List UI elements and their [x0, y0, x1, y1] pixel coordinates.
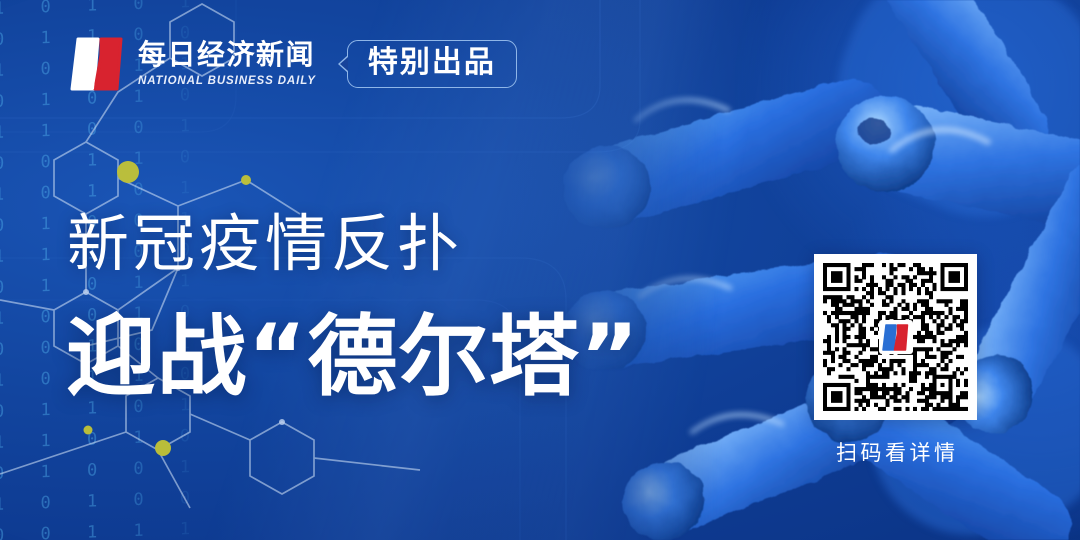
banner-poster: 1 0 1 0 1 0 1 1 0 0 1 0 0 1 1 0 1 0 1 0 … [0, 0, 1080, 540]
brand-name-cn: 每日经济新闻 [138, 41, 316, 69]
qr-caption: 扫码看详情 [814, 437, 977, 467]
brand-wordmark: 每日经济新闻 NATIONAL BUSINESS DAILY [138, 41, 316, 87]
special-edition-badge: 特别出品 [347, 40, 517, 88]
badge-frame: 特别出品 [347, 40, 517, 88]
nbd-m-mark-icon [68, 33, 128, 95]
poster-subtitle: 新冠疫情反扑 [67, 213, 463, 275]
qr-block: 扫码看详情 [814, 254, 977, 467]
brand-name-en: NATIONAL BUSINESS DAILY [138, 75, 316, 87]
brand-header: 每日经济新闻 NATIONAL BUSINESS DAILY 特别出品 [68, 33, 517, 95]
poster-title: 迎战“德尔塔” [66, 313, 640, 401]
badge-label: 特别出品 [368, 48, 496, 78]
qr-code[interactable] [814, 254, 977, 420]
qr-center-logo [879, 320, 913, 354]
nbd-m-mark-icon [881, 322, 911, 353]
badge-tail-inner-icon [340, 57, 348, 71]
